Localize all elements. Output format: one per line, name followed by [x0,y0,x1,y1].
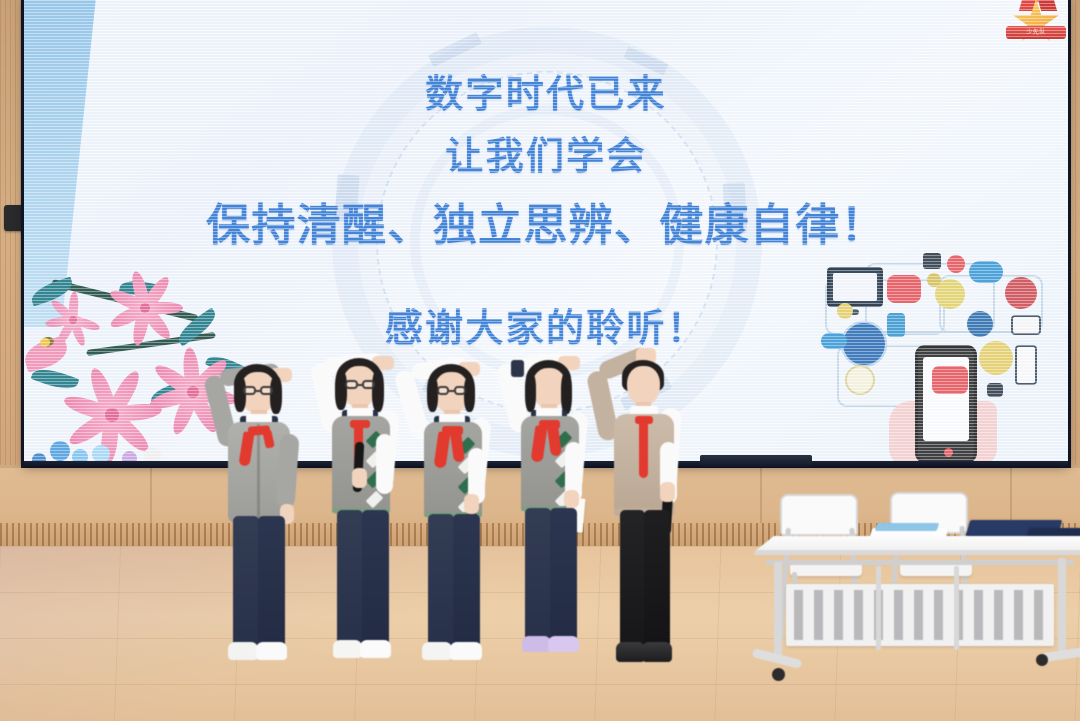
conference-table[interactable] [758,524,1080,721]
shoe [256,642,287,660]
screen-foot [700,455,812,467]
shoe [642,642,672,662]
wall-joint [150,465,152,523]
glasses-icon [243,386,256,395]
shoe [548,636,579,652]
shoe [522,636,551,652]
auditorium-scene: 少先队 数字时代已来 让我们学会 保持清醒、独立思辨、健康自律！ 感谢大家的聆听… [0,0,1080,721]
student-5 [578,342,698,674]
glasses-icon [260,386,273,395]
shoe [422,642,452,660]
blue-folder [875,523,940,531]
glasses-icon [362,380,375,389]
glasses-icon [345,380,358,389]
slide-line-3: 保持清醒、独立思辨、健康自律！ [24,189,1068,253]
glasses-icon [437,386,449,395]
shoe [360,640,391,658]
glasses-icon [454,386,466,395]
shoe [333,640,362,658]
shoe [616,642,645,662]
slide-line-1: 数字时代已来 [24,63,1068,118]
wall-mounted-sensor-icon [4,205,26,231]
slide-line-2: 让我们学会 [24,125,1068,180]
shoe [228,642,258,660]
wall-joint [760,465,762,523]
shoe [450,642,482,660]
wall-joint [1010,465,1012,523]
slide-line-4: 感谢大家的聆听！ [24,297,1068,352]
